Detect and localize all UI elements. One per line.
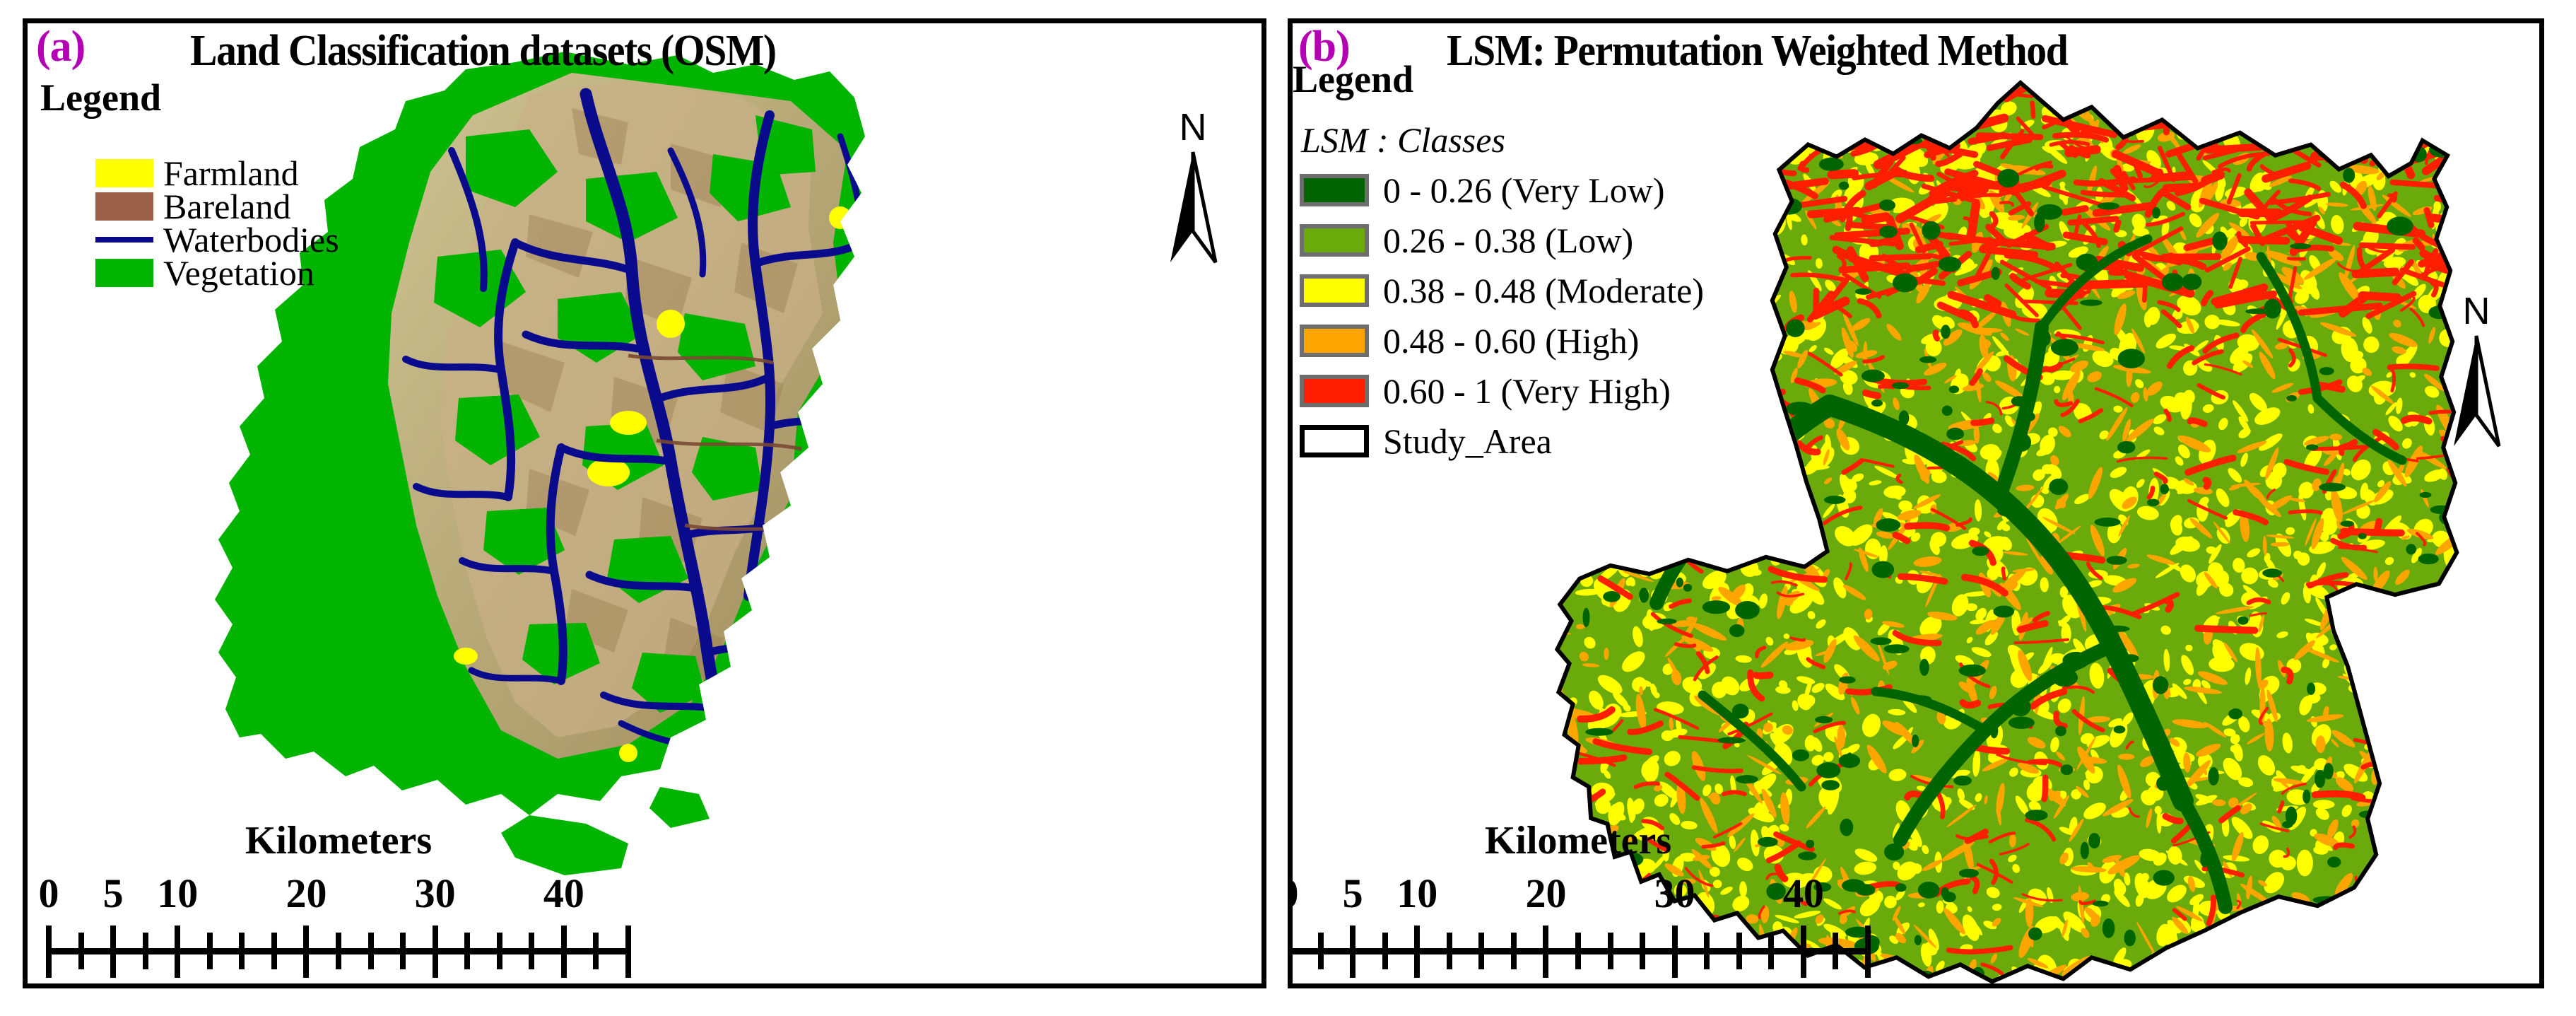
scalebar-tick-label: 40 (1783, 873, 1824, 914)
panel-a-north-arrow: N (1154, 108, 1232, 273)
legend-item-farmland[interactable]: Farmland (95, 156, 339, 189)
scalebar-tick (625, 926, 631, 978)
panel-a-land-classification: (a) Land Classification datasets (OSM) L… (23, 18, 1266, 988)
scalebar-tick (464, 933, 470, 969)
scalebar-numbers: 0510203040 (1288, 873, 1868, 920)
study-area-outline-icon (1300, 425, 1369, 457)
scalebar-ticks (49, 926, 628, 978)
scalebar-tick (1704, 933, 1710, 969)
scalebar-tick (1382, 933, 1388, 969)
scalebar-tick (400, 933, 406, 969)
north-arrow-icon (1154, 149, 1232, 269)
scalebar-numbers: 0510203040 (49, 873, 628, 920)
class-low-swatch-icon (1300, 224, 1369, 257)
class-high-swatch-icon (1300, 325, 1369, 357)
scalebar-tick (336, 933, 341, 969)
north-label: N (2437, 292, 2515, 330)
scalebar-tick (46, 926, 52, 978)
scalebar-tick (1608, 933, 1613, 969)
scalebar-tick (561, 926, 567, 978)
figure-root: (a) Land Classification datasets (OSM) L… (0, 0, 2576, 1016)
scalebar-tick (1640, 933, 1645, 969)
panel-b-lsm-permutation: (b) LSM: Permutation Weighted Method Leg… (1288, 18, 2544, 988)
scalebar-tick (1672, 926, 1678, 978)
panel-a-tag: (a) (36, 25, 85, 69)
class-very-high-swatch-icon (1300, 375, 1369, 407)
scalebar-tick (1478, 933, 1484, 969)
scalebar-tick (207, 933, 213, 969)
legend-item-label: Study_Area (1383, 424, 1552, 459)
legend-item-label: Vegetation (163, 255, 314, 291)
scalebar-tick (1575, 933, 1581, 969)
scalebar-title: Kilometers (49, 821, 628, 860)
scalebar-tick (110, 926, 116, 978)
legend-item-high[interactable]: 0.48 - 0.60 (High) (1300, 315, 1704, 366)
panel-b-north-arrow: N (2437, 292, 2515, 457)
scalebar-tick (1511, 933, 1517, 969)
panel-b-legend-subheading: LSM : Classes (1301, 122, 1505, 158)
legend-item-label: 0 - 0.26 (Very Low) (1383, 173, 1665, 208)
panel-b-title: LSM: Permutation Weighted Method (1447, 29, 2067, 73)
scalebar-tick (497, 933, 502, 969)
scalebar-tick (1350, 926, 1355, 978)
bareland-swatch-icon (95, 192, 153, 221)
legend-item-label: 0.26 - 0.38 (Low) (1383, 223, 1633, 258)
scalebar-tick (1801, 926, 1806, 978)
scalebar-tick-label: 40 (543, 873, 584, 914)
scalebar-tick (1318, 933, 1324, 969)
scalebar-tick (368, 933, 374, 969)
legend-item-study-area[interactable]: Study_Area (1300, 416, 1704, 466)
legend-item-bareland[interactable]: Bareland (95, 189, 339, 223)
legend-item-moderate[interactable]: 0.38 - 0.48 (Moderate) (1300, 265, 1704, 315)
panel-a-title: Land Classification datasets (OSM) (190, 29, 776, 73)
legend-item-low[interactable]: 0.26 - 0.38 (Low) (1300, 215, 1704, 265)
scalebar-tick-label: 10 (1396, 873, 1437, 914)
panel-a-legend-list: Farmland Bareland Waterbodies Vegetation (95, 156, 339, 289)
scalebar-tick (303, 926, 309, 978)
scalebar-tick-label: 20 (286, 873, 327, 914)
scalebar-tick (1768, 933, 1774, 969)
class-very-low-swatch-icon (1300, 174, 1369, 206)
scalebar-tick (1736, 933, 1742, 969)
north-arrow-icon (2437, 333, 2515, 453)
scalebar-tick (1288, 926, 1291, 978)
panel-a-legend-heading: Legend (40, 78, 161, 117)
scalebar-tick (433, 926, 438, 978)
legend-item-label: Bareland (163, 189, 290, 224)
scalebar-tick (1865, 926, 1871, 978)
farmland-swatch-icon (95, 159, 153, 187)
legend-item-label: 0.38 - 0.48 (Moderate) (1383, 273, 1704, 308)
scalebar-tick (175, 926, 180, 978)
scalebar-tick (143, 933, 148, 969)
scalebar-title: Kilometers (1288, 821, 1868, 860)
scalebar-tick-label: 0 (39, 873, 59, 914)
scalebar-tick-label: 20 (1525, 873, 1566, 914)
class-moderate-swatch-icon (1300, 274, 1369, 307)
panel-b-legend-list: 0 - 0.26 (Very Low) 0.26 - 0.38 (Low) 0.… (1300, 165, 1704, 466)
panel-b-tag: (b) (1298, 25, 1350, 69)
scalebar-tick-label: 0 (1288, 873, 1299, 914)
scalebar-tick (1414, 926, 1420, 978)
scalebar-tick (78, 933, 84, 969)
legend-item-very-high[interactable]: 0.60 - 1 (Very High) (1300, 366, 1704, 416)
legend-item-very-low[interactable]: 0 - 0.26 (Very Low) (1300, 165, 1704, 215)
legend-item-label: 0.60 - 1 (Very High) (1383, 373, 1671, 409)
scalebar-ticks (1288, 926, 1868, 978)
legend-item-waterbodies[interactable]: Waterbodies (95, 223, 339, 256)
north-label: N (1154, 108, 1232, 146)
scalebar-tick (271, 933, 277, 969)
scalebar-tick-label: 30 (1654, 873, 1695, 914)
legend-item-vegetation[interactable]: Vegetation (95, 256, 339, 289)
scalebar-tick-label: 5 (1343, 873, 1363, 914)
panel-a-scalebar: Kilometers 0510203040 (49, 821, 628, 978)
scalebar-tick (239, 933, 245, 969)
legend-item-label: 0.48 - 0.60 (High) (1383, 323, 1639, 358)
scalebar-tick-label: 5 (103, 873, 124, 914)
scalebar-tick (1447, 933, 1452, 969)
scalebar-tick-label: 30 (415, 873, 456, 914)
scalebar-tick (529, 933, 534, 969)
vegetation-swatch-icon (95, 259, 153, 287)
scalebar-tick (1833, 933, 1838, 969)
waterbodies-line-icon (95, 226, 153, 254)
legend-item-label: Farmland (163, 156, 299, 191)
legend-item-label: Waterbodies (163, 222, 339, 257)
scalebar-tick (593, 933, 599, 969)
scalebar-tick-label: 10 (157, 873, 198, 914)
scalebar-tick (1543, 926, 1548, 978)
panel-b-scalebar: Kilometers 0510203040 (1288, 821, 1868, 978)
